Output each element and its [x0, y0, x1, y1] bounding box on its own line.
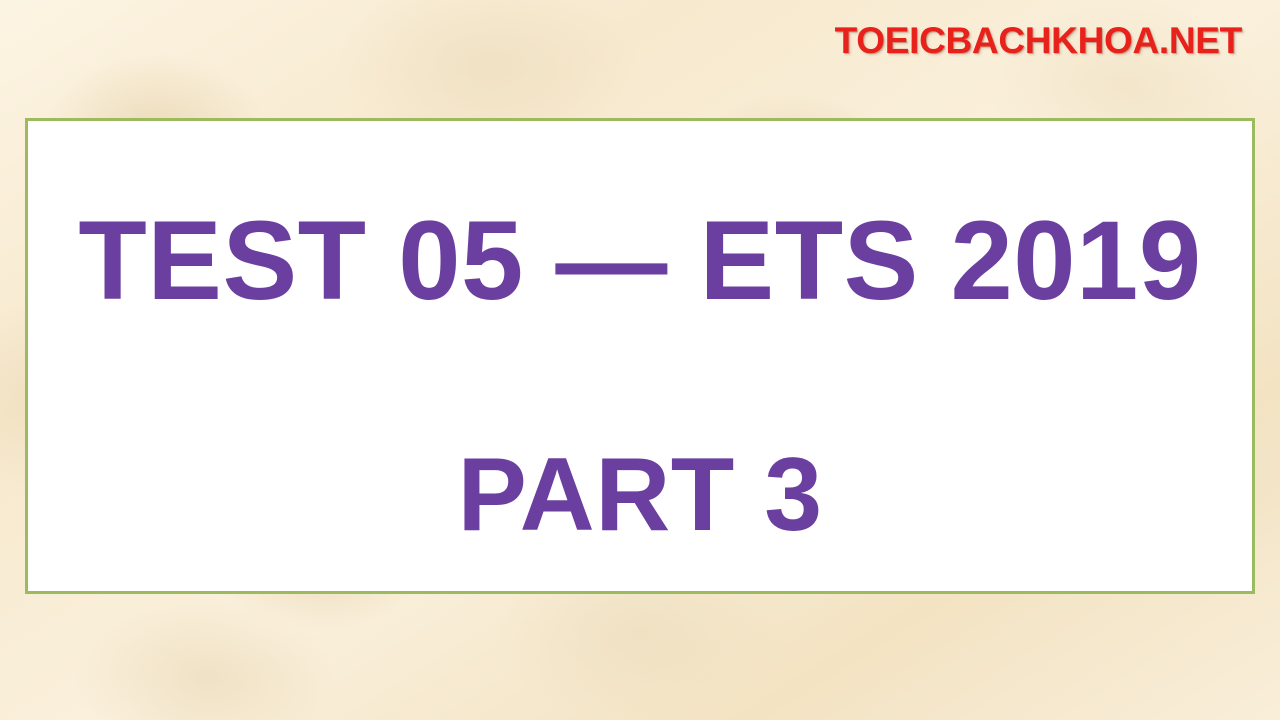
slide-canvas: TOEICBACHKHOA.NET TEST 05 — ETS 2019 PAR…	[0, 0, 1280, 720]
title-frame: TEST 05 — ETS 2019 PART 3	[25, 118, 1255, 594]
site-brand-watermark: TOEICBACHKHOA.NET	[835, 22, 1242, 59]
slide-subtitle: PART 3	[457, 443, 822, 547]
slide-title: TEST 05 — ETS 2019	[78, 205, 1201, 317]
